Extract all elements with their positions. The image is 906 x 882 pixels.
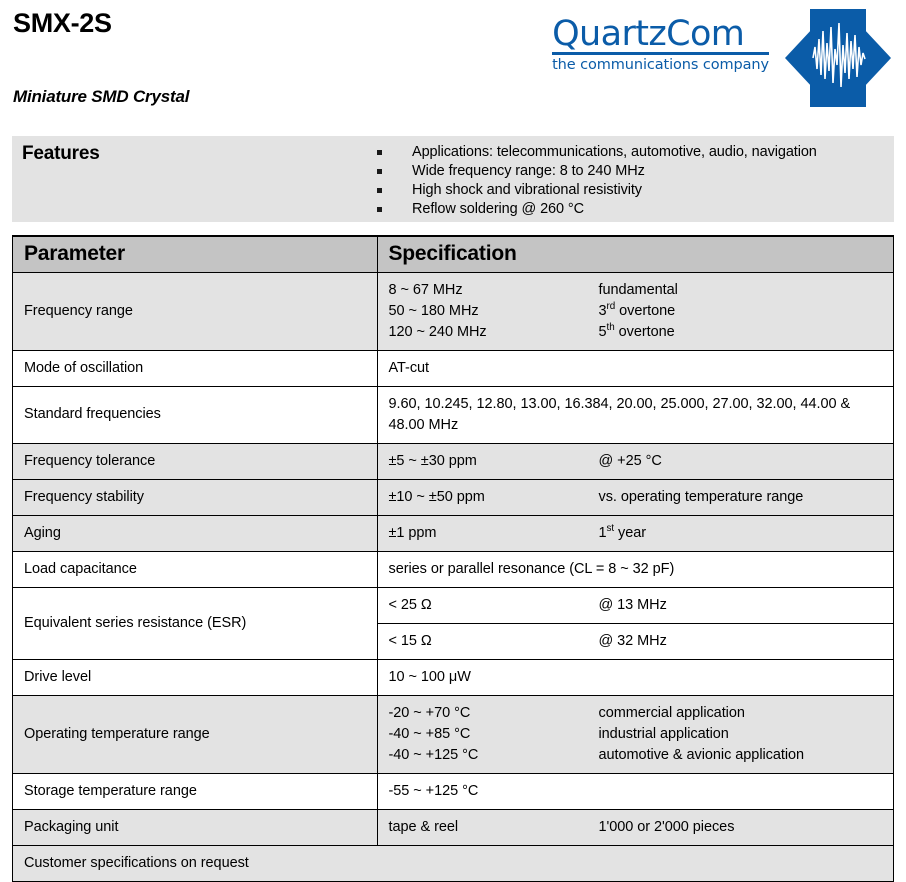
- logo-text-group: QuartzCom the communications company: [552, 9, 769, 73]
- spec-note: fundamental: [599, 280, 883, 301]
- spec-value: ±10 ~ ±50 ppm: [389, 487, 599, 508]
- bullet-square-icon: [377, 150, 382, 155]
- parameter-label: Load capacitance: [13, 552, 377, 587]
- cell-parameter: Aging: [13, 515, 377, 551]
- spec-value-group: -20 ~ +70 °Ccommercial application-40 ~ …: [378, 696, 894, 773]
- bullet-square-icon: [377, 188, 382, 193]
- spec-value-group: ±5 ~ ±30 ppm@ +25 °C: [378, 444, 894, 479]
- spec-value-group: 8 ~ 67 MHzfundamental50 ~ 180 MHz3rd ove…: [378, 273, 894, 350]
- parameter-label: Packaging unit: [13, 810, 377, 845]
- spec-line: ±5 ~ ±30 ppm@ +25 °C: [389, 451, 883, 472]
- spec-value-group: -55 ~ +125 °C: [378, 774, 894, 809]
- cell-parameter: Storage temperature range: [13, 773, 377, 809]
- spec-value-group: tape & reel1'000 or 2'000 pieces: [378, 810, 894, 845]
- cell-specification: 10 ~ 100 μW: [377, 659, 893, 695]
- spec-line: -20 ~ +70 °Ccommercial application: [389, 703, 883, 724]
- spec-note: [599, 358, 883, 379]
- features-heading: Features: [22, 143, 100, 165]
- spec-value-group: ±1 ppm1st year: [378, 516, 894, 551]
- spec-line: -55 ~ +125 °C: [389, 781, 883, 802]
- spec-subrow: < 15 Ω@ 32 MHz: [378, 623, 894, 659]
- spec-value: < 15 Ω: [389, 631, 599, 652]
- ordinal-suffix: th: [607, 322, 615, 333]
- features-list: Applications: telecommunications, automo…: [377, 143, 817, 219]
- parameter-label: Equivalent series resistance (ESR): [13, 606, 377, 641]
- cell-specification: tape & reel1'000 or 2'000 pieces: [377, 809, 893, 845]
- parameter-label: Frequency range: [13, 294, 377, 329]
- spec-value: -40 ~ +85 °C: [389, 724, 599, 745]
- parameter-label: Operating temperature range: [13, 717, 377, 752]
- cell-specification: 8 ~ 67 MHzfundamental50 ~ 180 MHz3rd ove…: [377, 272, 893, 350]
- spec-note: 1st year: [599, 523, 883, 544]
- feature-item: High shock and vibrational resistivity: [377, 181, 817, 200]
- cell-specification: ±1 ppm1st year: [377, 515, 893, 551]
- table-row: Frequency range8 ~ 67 MHzfundamental50 ~…: [13, 272, 893, 350]
- spec-note: 1'000 or 2'000 pieces: [599, 817, 883, 838]
- column-header-parameter: Parameter: [13, 237, 377, 272]
- cell-parameter: Equivalent series resistance (ESR): [13, 587, 377, 659]
- cell-footer-note: Customer specifications on request: [13, 845, 893, 881]
- product-subtitle: Miniature SMD Crystal: [13, 87, 189, 107]
- spec-value: 50 ~ 180 MHz: [389, 301, 599, 322]
- spec-value-group: AT-cut: [378, 351, 894, 386]
- spec-line: AT-cut: [389, 358, 883, 379]
- feature-item-label: Wide frequency range: 8 to 240 MHz: [412, 163, 645, 179]
- cell-specification: series or parallel resonance (CL = 8 ~ 3…: [377, 551, 893, 587]
- spec-note: [599, 781, 883, 802]
- cell-specification: ±10 ~ ±50 ppmvs. operating temperature r…: [377, 479, 893, 515]
- spec-note: automotive & avionic application: [599, 745, 883, 766]
- waveform-arrows-icon: [783, 9, 893, 107]
- spec-value: series or parallel resonance (CL = 8 ~ 3…: [378, 552, 894, 587]
- table-header-row: Parameter Specification: [13, 237, 893, 272]
- spec-value: 9.60, 10.245, 12.80, 13.00, 16.384, 20.0…: [378, 387, 894, 443]
- logo-wordmark: QuartzCom: [552, 17, 769, 51]
- bullet-square-icon: [377, 207, 382, 212]
- cell-parameter: Mode of oscillation: [13, 350, 377, 386]
- ordinal-suffix: st: [607, 523, 615, 534]
- spec-value: -20 ~ +70 °C: [389, 703, 599, 724]
- spec-line: -40 ~ +85 °Cindustrial application: [389, 724, 883, 745]
- cell-parameter: Operating temperature range: [13, 695, 377, 773]
- spec-line: 120 ~ 240 MHz5th overtone: [389, 322, 883, 343]
- table-footer-row: Customer specifications on request: [13, 845, 893, 881]
- column-header-specification: Specification: [377, 237, 893, 272]
- spec-value: tape & reel: [389, 817, 599, 838]
- table-row: Equivalent series resistance (ESR)< 25 Ω…: [13, 587, 893, 659]
- spec-note: @ 32 MHz: [599, 631, 883, 652]
- cell-parameter: Frequency range: [13, 272, 377, 350]
- spec-value: ±1 ppm: [389, 523, 599, 544]
- cell-specification: 9.60, 10.245, 12.80, 13.00, 16.384, 20.0…: [377, 386, 893, 443]
- spec-value: 8 ~ 67 MHz: [389, 280, 599, 301]
- column-header-specification-label: Specification: [378, 242, 894, 266]
- logo-tagline: the communications company: [552, 57, 769, 73]
- spec-note: @ 13 MHz: [599, 595, 883, 616]
- cell-parameter: Load capacitance: [13, 551, 377, 587]
- feature-item: Applications: telecommunications, automo…: [377, 143, 817, 162]
- cell-parameter: Standard frequencies: [13, 386, 377, 443]
- spec-value: -55 ~ +125 °C: [389, 781, 599, 802]
- spec-value: < 25 Ω: [389, 595, 599, 616]
- spec-subrow: < 25 Ω@ 13 MHz: [378, 588, 894, 623]
- table-row: Aging±1 ppm1st year: [13, 515, 893, 551]
- spec-line: ±1 ppm1st year: [389, 523, 883, 544]
- table-row: Operating temperature range-20 ~ +70 °Cc…: [13, 695, 893, 773]
- feature-item-label: Reflow soldering @ 260 °C: [412, 201, 584, 217]
- spec-line: 8 ~ 67 MHzfundamental: [389, 280, 883, 301]
- column-header-parameter-label: Parameter: [13, 242, 377, 266]
- table-row: Frequency tolerance±5 ~ ±30 ppm@ +25 °C: [13, 443, 893, 479]
- spec-subrow-group: < 25 Ω@ 13 MHz< 15 Ω@ 32 MHz: [378, 588, 894, 659]
- feature-item: Reflow soldering @ 260 °C: [377, 200, 817, 219]
- spec-value: AT-cut: [389, 358, 599, 379]
- spec-value: 10 ~ 100 μW: [378, 660, 894, 695]
- spec-note: @ +25 °C: [599, 451, 883, 472]
- parameter-label: Aging: [13, 516, 377, 551]
- feature-item: Wide frequency range: 8 to 240 MHz: [377, 162, 817, 181]
- parameter-label: Standard frequencies: [13, 397, 377, 432]
- parameter-label: Drive level: [13, 660, 377, 695]
- table-row: Standard frequencies9.60, 10.245, 12.80,…: [13, 386, 893, 443]
- cell-specification: -55 ~ +125 °C: [377, 773, 893, 809]
- cell-parameter: Drive level: [13, 659, 377, 695]
- table-row: Load capacitanceseries or parallel reson…: [13, 551, 893, 587]
- spec-note: industrial application: [599, 724, 883, 745]
- parameter-label: Storage temperature range: [13, 774, 377, 809]
- parameter-label: Mode of oscillation: [13, 351, 377, 386]
- page-title: SMX-2S: [13, 8, 112, 39]
- cell-specification: ±5 ~ ±30 ppm@ +25 °C: [377, 443, 893, 479]
- features-panel: Features Applications: telecommunication…: [12, 136, 894, 222]
- spec-line: ±10 ~ ±50 ppmvs. operating temperature r…: [389, 487, 883, 508]
- table-row: Storage temperature range-55 ~ +125 °C: [13, 773, 893, 809]
- spec-note: 3rd overtone: [599, 301, 883, 322]
- table-row: Frequency stability±10 ~ ±50 ppmvs. oper…: [13, 479, 893, 515]
- ordinal-suffix: rd: [607, 301, 616, 312]
- parameter-label: Frequency stability: [13, 480, 377, 515]
- spec-note: vs. operating temperature range: [599, 487, 883, 508]
- spec-line: tape & reel1'000 or 2'000 pieces: [389, 817, 883, 838]
- feature-item-label: High shock and vibrational resistivity: [412, 182, 642, 198]
- company-logo: QuartzCom the communications company: [552, 9, 893, 107]
- spec-line: 50 ~ 180 MHz3rd overtone: [389, 301, 883, 322]
- cell-specification: AT-cut: [377, 350, 893, 386]
- cell-specification: -20 ~ +70 °Ccommercial application-40 ~ …: [377, 695, 893, 773]
- cell-specification: < 25 Ω@ 13 MHz< 15 Ω@ 32 MHz: [377, 587, 893, 659]
- cell-parameter: Packaging unit: [13, 809, 377, 845]
- page-header: SMX-2S Miniature SMD Crystal QuartzCom t…: [0, 0, 906, 136]
- table-row: Packaging unittape & reel1'000 or 2'000 …: [13, 809, 893, 845]
- cell-parameter: Frequency tolerance: [13, 443, 377, 479]
- spec-value: 120 ~ 240 MHz: [389, 322, 599, 343]
- table-row: Drive level10 ~ 100 μW: [13, 659, 893, 695]
- cell-parameter: Frequency stability: [13, 479, 377, 515]
- spec-value-group: ±10 ~ ±50 ppmvs. operating temperature r…: [378, 480, 894, 515]
- footer-note-label: Customer specifications on request: [13, 846, 893, 881]
- bullet-square-icon: [377, 169, 382, 174]
- spec-value: ±5 ~ ±30 ppm: [389, 451, 599, 472]
- feature-item-label: Applications: telecommunications, automo…: [412, 144, 817, 160]
- parameter-label: Frequency tolerance: [13, 444, 377, 479]
- spec-value: -40 ~ +125 °C: [389, 745, 599, 766]
- spec-note: commercial application: [599, 703, 883, 724]
- spec-line: -40 ~ +125 °Cautomotive & avionic applic…: [389, 745, 883, 766]
- spec-note: 5th overtone: [599, 322, 883, 343]
- table-row: Mode of oscillationAT-cut: [13, 350, 893, 386]
